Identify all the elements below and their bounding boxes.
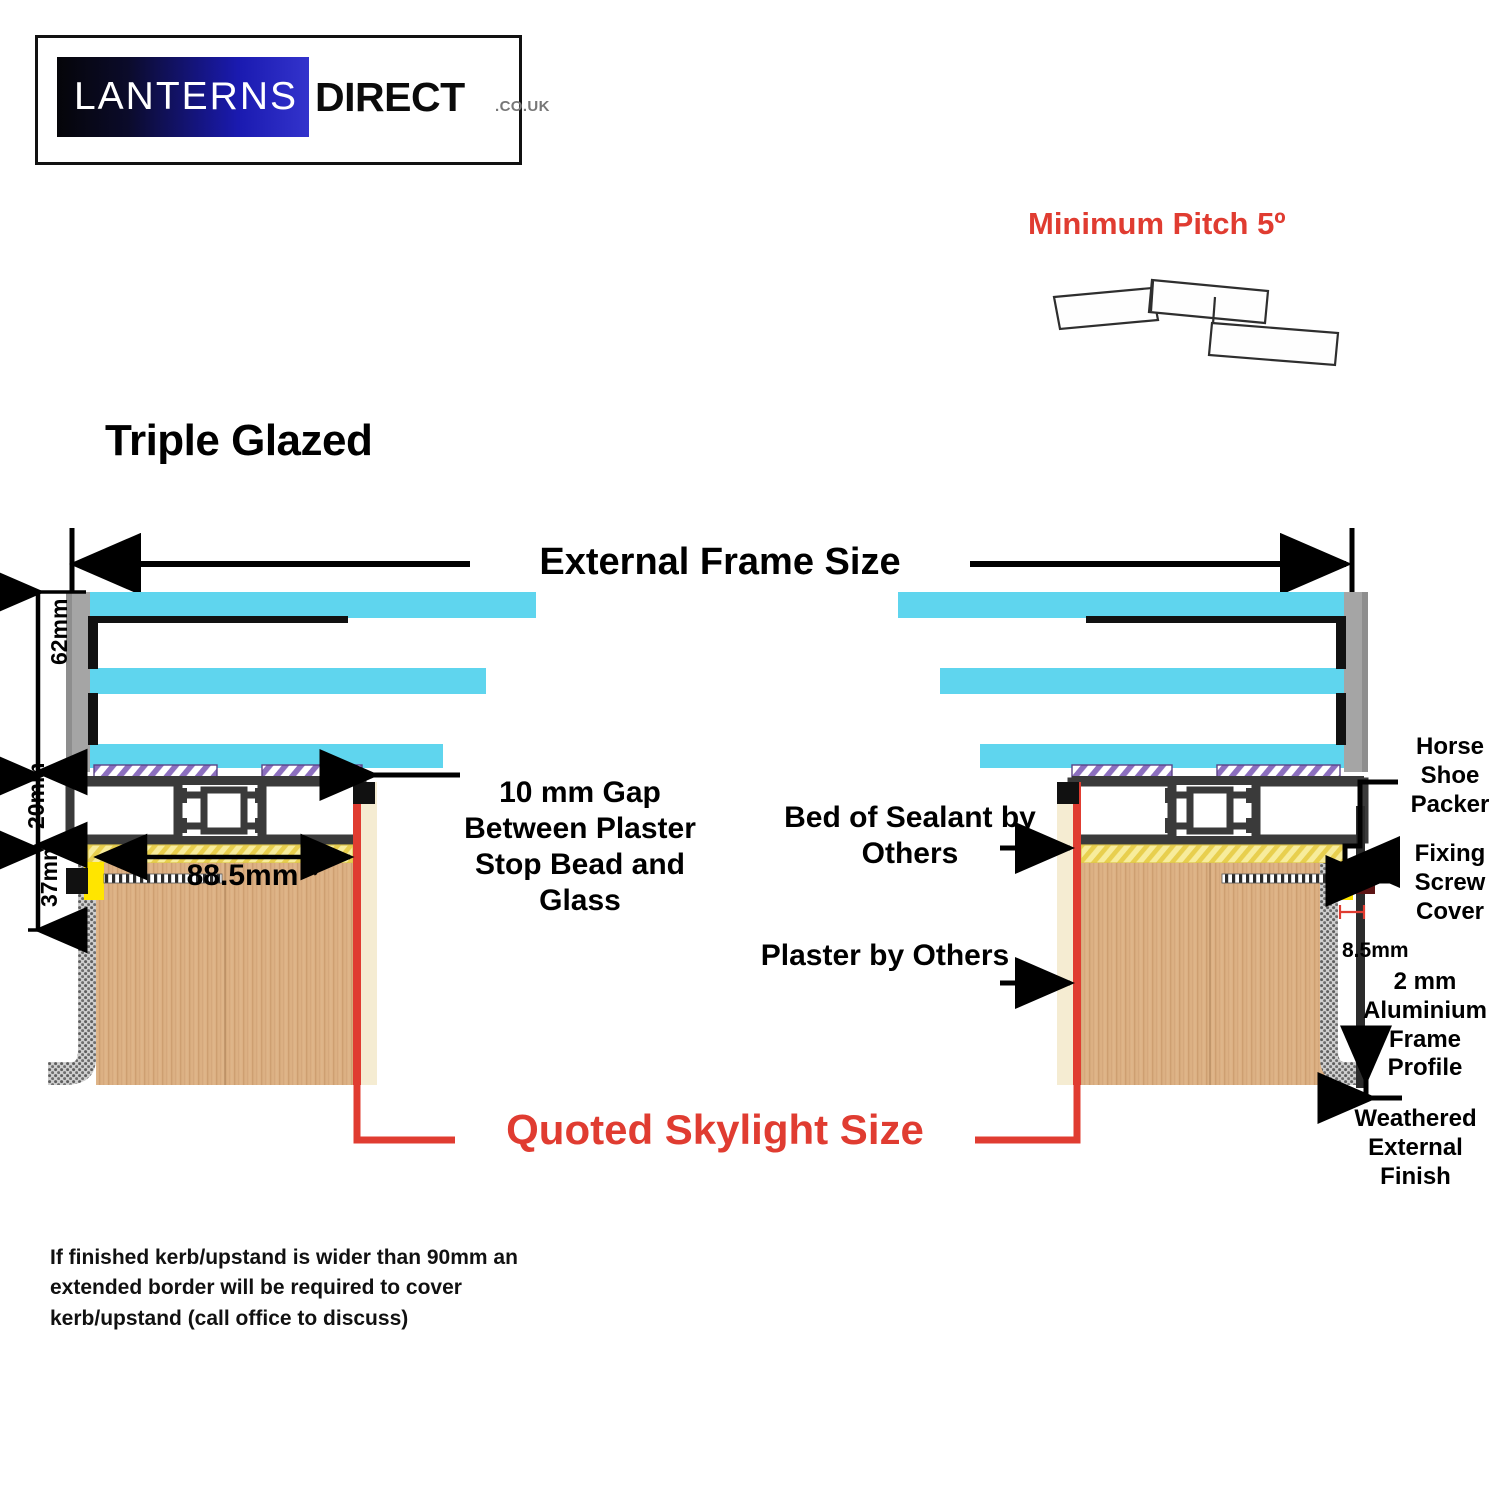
callout-plaster-by-others: Plaster by Others: [760, 938, 1010, 974]
skylight-cross-section-diagram: [0, 0, 1500, 1255]
aluminium-frame-profile-left: [70, 776, 362, 845]
glass-unit-right: [898, 592, 1368, 772]
kerb-upstand-right: [1081, 863, 1338, 1085]
label-external-frame-size: External Frame Size: [470, 540, 970, 586]
callout-quoted-skylight-size: Quoted Skylight Size: [455, 1105, 975, 1155]
callout-horse-shoe-packer: Horse Shoe Packer: [1402, 733, 1498, 819]
footnote-text: If finished kerb/upstand is wider than 9…: [50, 1243, 550, 1334]
callout-plaster-stop-bead-gap: 10 mm Gap Between Plaster Stop Bead and …: [435, 775, 725, 919]
callout-weathered-external-finish: Weathered External Finish: [1348, 1105, 1483, 1191]
quoted-size-line-left: [353, 782, 361, 1085]
quoted-size-line-right: [1073, 782, 1081, 1085]
label-dimension-20mm: 20mm: [23, 756, 51, 836]
label-dimension-62mm: 62mm: [46, 586, 74, 678]
kerb-upstand-left: [96, 863, 353, 1085]
bed-of-sealant-right: [1081, 845, 1346, 863]
aluminium-frame-profile-right: [1072, 776, 1364, 845]
callout-aluminium-frame-profile: 2 mm Aluminium Frame Profile: [1350, 968, 1500, 1083]
screw-cover-cap-right: [1057, 782, 1079, 804]
label-dimension-kerb-width: 88.5mm *: [145, 858, 360, 894]
screw-cover-cap-left: [353, 782, 375, 804]
glass-unit-left: [66, 592, 536, 772]
label-dimension-37mm: 37mm: [36, 831, 64, 917]
label-dimension-frame-edge: 8.5mm: [1342, 938, 1437, 963]
callout-bed-of-sealant: Bed of Sealant by Others: [760, 800, 1060, 872]
callout-fixing-screw-cover: Fixing Screw Cover: [1402, 840, 1498, 926]
